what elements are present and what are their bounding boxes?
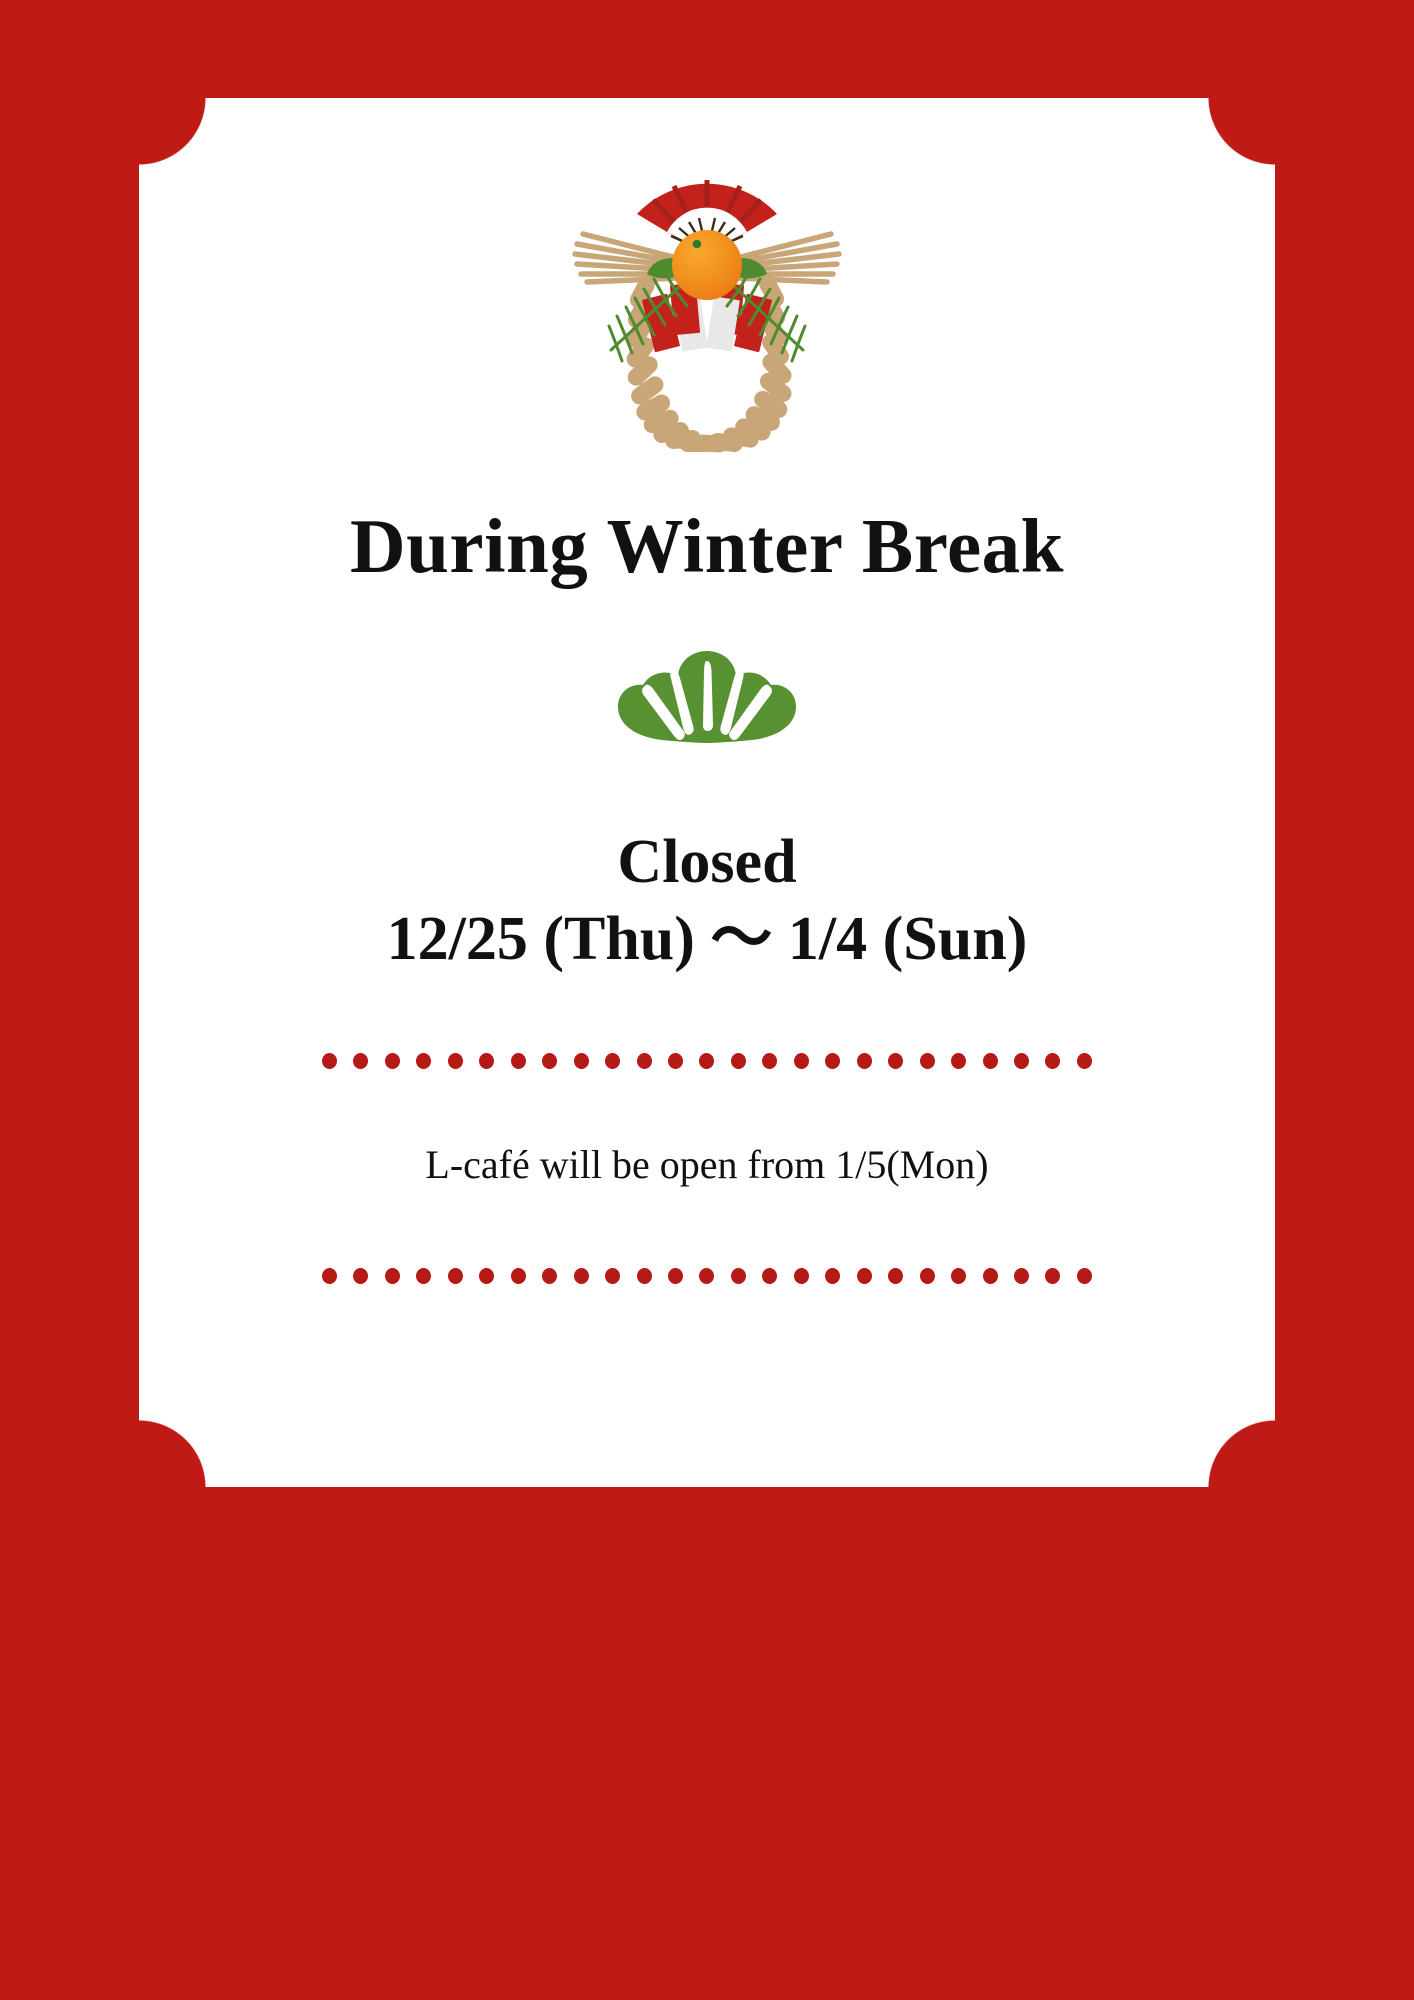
divider-dot bbox=[1045, 1053, 1060, 1069]
divider-dot bbox=[605, 1268, 620, 1284]
divider-dot bbox=[637, 1268, 652, 1284]
divider-dot bbox=[479, 1268, 494, 1284]
divider-dot bbox=[637, 1053, 652, 1069]
page-title: During Winter Break bbox=[350, 506, 1064, 587]
divider-dot bbox=[920, 1268, 935, 1284]
closed-dates: 12/25 (Thu) 〜 1/4 (Sun) bbox=[387, 904, 1028, 975]
divider-dot bbox=[574, 1053, 589, 1069]
poster-content: During Winter Break Closed 12/25 (Thu) 〜… bbox=[139, 98, 1275, 1487]
divider-dot bbox=[1077, 1053, 1092, 1069]
divider-dot bbox=[322, 1053, 337, 1069]
divider-dot bbox=[857, 1268, 872, 1284]
divider-dot bbox=[1045, 1268, 1060, 1284]
divider-dot bbox=[385, 1053, 400, 1069]
divider-dot bbox=[353, 1053, 368, 1069]
pine-sprig-icon bbox=[612, 645, 802, 755]
divider-dot bbox=[1014, 1268, 1029, 1284]
divider-dot bbox=[542, 1053, 557, 1069]
poster-background: During Winter Break Closed 12/25 (Thu) 〜… bbox=[0, 0, 1414, 2000]
divider-dot bbox=[1077, 1268, 1092, 1284]
dotted-divider-bottom bbox=[322, 1268, 1092, 1284]
divider-dot bbox=[794, 1268, 809, 1284]
divider-dot bbox=[353, 1268, 368, 1284]
divider-dot bbox=[983, 1268, 998, 1284]
shimekazari-wreath-icon bbox=[547, 148, 867, 458]
divider-dot bbox=[762, 1268, 777, 1284]
closed-label: Closed bbox=[617, 827, 796, 898]
divider-dot bbox=[668, 1268, 683, 1284]
divider-dot bbox=[857, 1053, 872, 1069]
divider-dot bbox=[951, 1053, 966, 1069]
divider-dot bbox=[322, 1268, 337, 1284]
divider-dot bbox=[479, 1053, 494, 1069]
divider-dot bbox=[1014, 1053, 1029, 1069]
divider-dot bbox=[920, 1053, 935, 1069]
divider-dot bbox=[825, 1053, 840, 1069]
divider-dot bbox=[983, 1053, 998, 1069]
divider-dot bbox=[511, 1053, 526, 1069]
divider-dot bbox=[416, 1268, 431, 1284]
dotted-divider-top bbox=[322, 1053, 1092, 1069]
divider-dot bbox=[385, 1268, 400, 1284]
divider-dot bbox=[825, 1268, 840, 1284]
reopen-note: L-café will be open from 1/5(Mon) bbox=[425, 1141, 988, 1188]
divider-dot bbox=[416, 1053, 431, 1069]
divider-dot bbox=[542, 1268, 557, 1284]
divider-dot bbox=[762, 1053, 777, 1069]
divider-dot bbox=[448, 1268, 463, 1284]
divider-dot bbox=[605, 1053, 620, 1069]
divider-dot bbox=[794, 1053, 809, 1069]
divider-dot bbox=[448, 1053, 463, 1069]
divider-dot bbox=[888, 1268, 903, 1284]
divider-dot bbox=[731, 1053, 746, 1069]
divider-dot bbox=[951, 1268, 966, 1284]
divider-dot bbox=[731, 1268, 746, 1284]
divider-dot bbox=[699, 1053, 714, 1069]
divider-dot bbox=[668, 1053, 683, 1069]
divider-dot bbox=[574, 1268, 589, 1284]
mikan-orange-icon bbox=[672, 230, 742, 300]
divider-dot bbox=[888, 1053, 903, 1069]
divider-dot bbox=[511, 1268, 526, 1284]
divider-dot bbox=[699, 1268, 714, 1284]
